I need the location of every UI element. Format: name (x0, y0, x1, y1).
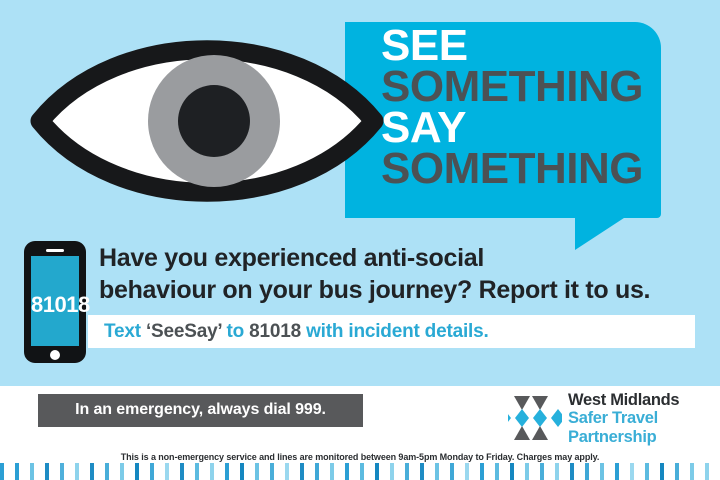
slogan-text: SEE SOMETHING SAY SOMETHING (381, 26, 681, 190)
dash-swatch (435, 463, 439, 480)
logo-line-3: Partnership (568, 428, 718, 446)
organisation-logo: West Midlands Safer Travel Partnership (508, 392, 708, 446)
dash-swatch (15, 463, 19, 480)
dash-swatch (465, 463, 469, 480)
dash-swatch (240, 463, 244, 480)
instruction-band: Text ‘SeeSay’ to 81018 with incident det… (88, 315, 695, 348)
dash-swatch (660, 463, 664, 480)
dash-swatch (630, 463, 634, 480)
dash-swatch (645, 463, 649, 480)
dash-swatch (345, 463, 349, 480)
slogan-line-3: SAY (381, 108, 681, 149)
dash-swatch (555, 463, 559, 480)
dash-swatch (135, 463, 139, 480)
dash-swatch (270, 463, 274, 480)
dash-swatch (195, 463, 199, 480)
emergency-text: In an emergency, always dial 999. (38, 401, 363, 419)
dash-swatch (690, 463, 694, 480)
eye-icon (22, 24, 392, 219)
phone-shortcode: 81018 (31, 292, 79, 318)
dash-swatch (360, 463, 364, 480)
slogan-line-2: SOMETHING (381, 67, 681, 108)
dash-swatch (30, 463, 34, 480)
dash-swatch (450, 463, 454, 480)
instruction-part-4: 81018 (249, 321, 306, 342)
dash-swatch (420, 463, 424, 480)
headline-line-2: behaviour on your bus journey? Report it… (99, 275, 704, 307)
dash-swatch (705, 463, 709, 480)
dash-swatch (330, 463, 334, 480)
dash-swatch (285, 463, 289, 480)
instruction-text: Text ‘SeeSay’ to 81018 with incident det… (104, 321, 489, 343)
dash-swatch (315, 463, 319, 480)
dash-swatch (165, 463, 169, 480)
dash-swatch (300, 463, 304, 480)
logo-line-1: West Midlands (568, 391, 718, 409)
phone-home-button (50, 350, 60, 360)
disclaimer-text: This is a non-emergency service and line… (0, 452, 720, 462)
dash-swatch (210, 463, 214, 480)
dash-swatch (255, 463, 259, 480)
dash-swatch (0, 463, 4, 480)
emergency-box: In an emergency, always dial 999. (38, 394, 363, 427)
dash-swatch (600, 463, 604, 480)
instruction-part-2: ‘SeeSay’ (146, 321, 227, 342)
instruction-part-3: to (227, 321, 250, 342)
dash-swatch (150, 463, 154, 480)
dash-swatch (525, 463, 529, 480)
dash-swatch (570, 463, 574, 480)
dash-swatch (120, 463, 124, 480)
dash-swatch (180, 463, 184, 480)
logo-diamond-mark-icon (508, 394, 562, 442)
dash-swatch (60, 463, 64, 480)
dash-swatch (540, 463, 544, 480)
dash-swatch (405, 463, 409, 480)
logo-wordmark: West Midlands Safer Travel Partnership (568, 391, 718, 446)
phone-icon: 81018 (24, 241, 86, 363)
dash-swatch (495, 463, 499, 480)
dash-swatch (615, 463, 619, 480)
slogan-line-1: SEE (381, 26, 681, 67)
dash-swatch (75, 463, 79, 480)
dash-swatch (510, 463, 514, 480)
dash-swatch (45, 463, 49, 480)
instruction-part-5: with incident details. (306, 321, 488, 342)
instruction-part-1: Text (104, 321, 146, 342)
dash-swatch (390, 463, 394, 480)
headline: Have you experienced anti-social behavio… (99, 243, 704, 306)
phone-speaker (46, 249, 64, 252)
headline-line-1: Have you experienced anti-social (99, 243, 704, 275)
dash-swatch (90, 463, 94, 480)
logo-line-2: Safer Travel (568, 409, 718, 427)
dash-swatch (480, 463, 484, 480)
phone-screen: 81018 (31, 256, 79, 346)
dash-swatch (675, 463, 679, 480)
poster-canvas: SEE SOMETHING SAY SOMETHING 81018 Have y… (0, 0, 720, 480)
slogan-line-4: SOMETHING (381, 149, 681, 190)
dash-swatch (225, 463, 229, 480)
dash-swatch (375, 463, 379, 480)
decorative-dash-bar (0, 463, 720, 480)
dash-swatch (585, 463, 589, 480)
dash-swatch (105, 463, 109, 480)
